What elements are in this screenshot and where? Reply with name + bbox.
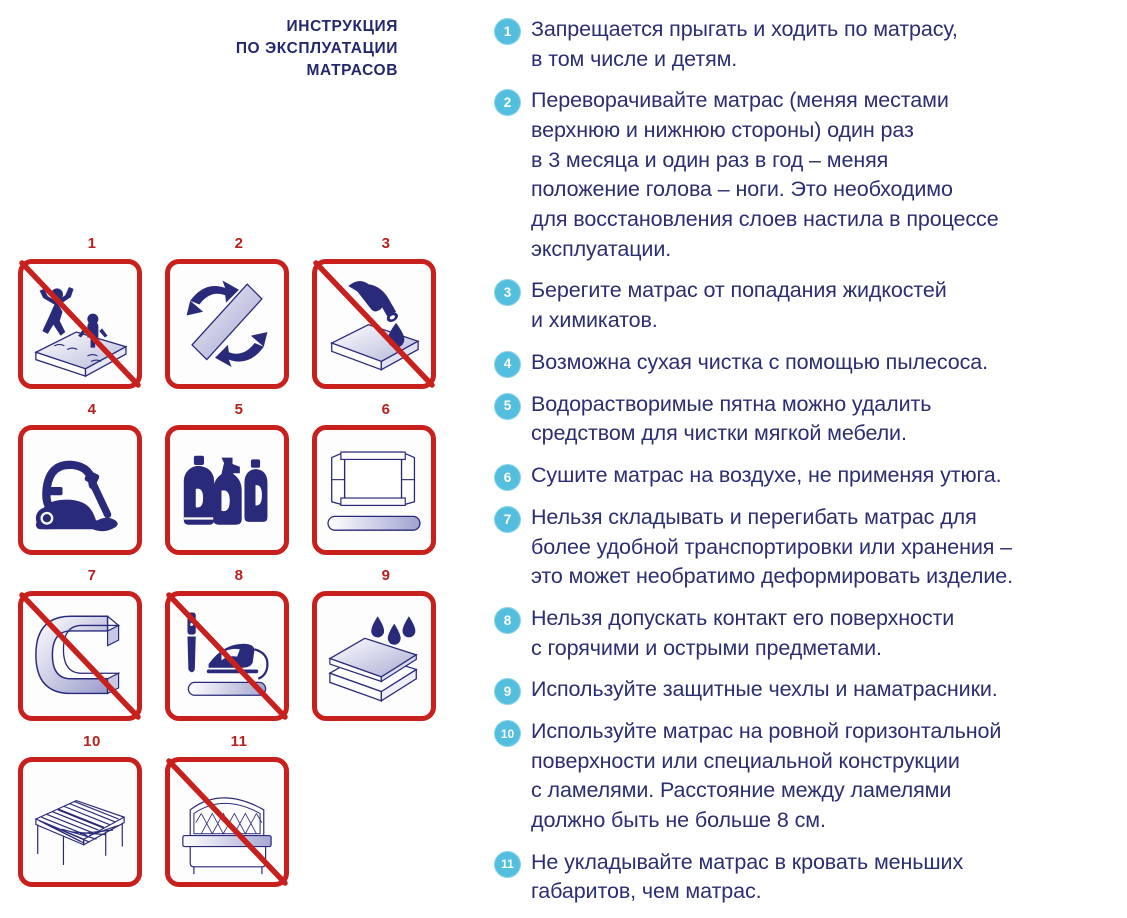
mattress-protector-cover-icon xyxy=(312,591,436,721)
pictogram-row: 10 xyxy=(0,734,460,900)
instruction-line: Нельзя допускать контакт его поверхности xyxy=(531,604,954,634)
status-badge: 3 xyxy=(494,279,521,306)
instruction-line: это может необратимо деформировать издел… xyxy=(531,562,1013,592)
pictogram-cell: 4 xyxy=(18,402,166,555)
pictogram-row: 7 xyxy=(0,568,460,734)
status-badge: 8 xyxy=(494,607,521,634)
list-item: 8 Нельзя допускать контакт его поверхнос… xyxy=(494,603,1114,663)
pictogram-number: 9 xyxy=(312,568,460,585)
status-badge: 11 xyxy=(494,851,521,878)
status-badge: 10 xyxy=(494,720,521,747)
pictogram-cell: 10 xyxy=(18,734,166,887)
instruction-line: поверхности или специальной конструкции xyxy=(531,747,1001,777)
instruction-line: с горячими и острыми предметами. xyxy=(531,634,954,664)
instruction-text: Водорастворимые пятна можно удалить сред… xyxy=(531,389,931,449)
pictogram-number: 4 xyxy=(18,402,166,419)
status-badge: 5 xyxy=(494,393,521,420)
instruction-line: с ламелями. Расстояние между ламелями xyxy=(531,776,1001,806)
instruction-line: Запрещается прыгать и ходить по матрасу, xyxy=(531,15,958,45)
list-item: 6 Сушите матрас на воздухе, не применяя … xyxy=(494,460,1114,491)
instruction-line: в том числе и детям. xyxy=(531,45,958,75)
list-item: 11 Не укладывайте матрас в кровать меньш… xyxy=(494,847,1114,907)
vacuum-cleaner-icon xyxy=(18,425,142,555)
status-badge: 6 xyxy=(494,464,521,491)
pictogram-number: 2 xyxy=(165,236,313,253)
pictogram-cell: 5 xyxy=(165,402,313,555)
list-item: 9 Используйте защитные чехлы и наматрасн… xyxy=(494,674,1114,705)
pictogram-cell: 1 xyxy=(18,236,166,389)
pictogram-number: 10 xyxy=(18,734,166,751)
pictogram-cell: 3 xyxy=(312,236,460,389)
list-item: 2 Переворачивайте матрас (меняя местами … xyxy=(494,85,1114,264)
pictogram-cell: 7 xyxy=(18,568,166,721)
instruction-line: Используйте защитные чехлы и наматрасник… xyxy=(531,675,998,705)
instruction-text: Используйте матрас на ровной горизонталь… xyxy=(531,716,1001,836)
instruction-text: Используйте защитные чехлы и наматрасник… xyxy=(531,674,998,705)
instruction-line: средством для чистки мягкой мебели. xyxy=(531,419,931,449)
instruction-line: Сушите матрас на воздухе, не применяя ут… xyxy=(531,461,1002,491)
list-item: 5 Водорастворимые пятна можно удалить ср… xyxy=(494,389,1114,449)
instruction-text: Нельзя допускать контакт его поверхности… xyxy=(531,603,954,663)
pictogram-row: 4 xyxy=(0,402,460,568)
instruction-line: Не укладывайте матрас в кровать меньших xyxy=(531,848,963,878)
instruction-line: Переворачивайте матрас (меняя местами xyxy=(531,86,999,116)
instruction-list: 1 Запрещается прыгать и ходить по матрас… xyxy=(494,14,1114,918)
instruction-line: габаритов, чем матрас. xyxy=(531,877,963,907)
instruction-text: Переворачивайте матрас (меняя местами ве… xyxy=(531,85,999,264)
pictogram-grid: 1 xyxy=(0,236,460,900)
rotate-flip-mattress-icon xyxy=(165,259,289,389)
status-badge: 7 xyxy=(494,506,521,533)
instruction-line: Возможна сухая чистка с помощью пылесоса… xyxy=(531,348,988,378)
page-title: ИНСТРУКЦИЯ ПО ЭКСПЛУАТАЦИИ МАТРАСОВ xyxy=(170,16,398,82)
pictogram-number: 7 xyxy=(18,568,166,585)
instruction-line: и химикатов. xyxy=(531,306,947,336)
pictogram-cell: 9 xyxy=(312,568,460,721)
pictogram-number: 8 xyxy=(165,568,313,585)
instruction-text: Возможна сухая чистка с помощью пылесоса… xyxy=(531,347,988,378)
instruction-line: более удобной транспортировки или хранен… xyxy=(531,533,1013,563)
pictogram-cell: 8 xyxy=(165,568,313,721)
instruction-poster: ИНСТРУКЦИЯ ПО ЭКСПЛУАТАЦИИ МАТРАСОВ 1 xyxy=(0,0,1127,918)
instruction-text: Запрещается прыгать и ходить по матрасу,… xyxy=(531,14,958,74)
pictogram-number: 3 xyxy=(312,236,460,253)
instruction-line: Нельзя складывать и перегибать матрас дл… xyxy=(531,503,1013,533)
page-title-line-1: ИНСТРУКЦИЯ xyxy=(170,16,398,38)
instruction-text: Нельзя складывать и перегибать матрас дл… xyxy=(531,502,1013,592)
instruction-line: Берегите матрас от попадания жидкостей xyxy=(531,276,947,306)
page-title-line-3: МАТРАСОВ xyxy=(170,60,398,82)
instruction-line: Используйте матрас на ровной горизонталь… xyxy=(531,717,1001,747)
list-item: 10 Используйте матрас на ровной горизонт… xyxy=(494,716,1114,836)
status-badge: 2 xyxy=(494,89,521,116)
pictogram-cell: 11 xyxy=(165,734,313,887)
air-dry-mattress-icon xyxy=(312,425,436,555)
instruction-line: должно быть не больше 8 см. xyxy=(531,806,1001,836)
instruction-text: Не укладывайте матрас в кровать меньших … xyxy=(531,847,963,907)
no-smaller-bed-frame-icon xyxy=(165,757,289,887)
instruction-line: верхнюю и нижнюю стороны) один раз xyxy=(531,116,999,146)
slatted-bed-base-icon xyxy=(18,757,142,887)
instruction-line: для восстановления слоев настила в проце… xyxy=(531,205,999,235)
pictogram-cell: 2 xyxy=(165,236,313,389)
instruction-line: в 3 месяца и один раз в год – меняя xyxy=(531,146,999,176)
instruction-text: Сушите матрас на воздухе, не применяя ут… xyxy=(531,460,1002,491)
pictogram-row: 1 xyxy=(0,236,460,402)
no-liquids-on-mattress-icon xyxy=(312,259,436,389)
instruction-line: положение голова – ноги. Это необходимо xyxy=(531,175,999,205)
pictogram-number: 1 xyxy=(18,236,166,253)
pictogram-number: 5 xyxy=(165,402,313,419)
instruction-text: Берегите матрас от попадания жидкостей и… xyxy=(531,275,947,335)
pictogram-number: 6 xyxy=(312,402,460,419)
pictogram-cell: 6 xyxy=(312,402,460,555)
list-item: 7 Нельзя складывать и перегибать матрас … xyxy=(494,502,1114,592)
no-folding-mattress-icon xyxy=(18,591,142,721)
no-jumping-on-mattress-icon xyxy=(18,259,142,389)
page-title-line-2: ПО ЭКСПЛУАТАЦИИ xyxy=(170,38,398,60)
status-badge: 9 xyxy=(494,678,521,705)
instruction-line: Водорастворимые пятна можно удалить xyxy=(531,390,931,420)
pictogram-number: 11 xyxy=(165,734,313,751)
instruction-line: эксплуатации. xyxy=(531,235,999,265)
no-iron-no-sharp-objects-icon xyxy=(165,591,289,721)
list-item: 1 Запрещается прыгать и ходить по матрас… xyxy=(494,14,1114,74)
status-badge: 1 xyxy=(494,18,521,45)
status-badge: 4 xyxy=(494,351,521,378)
list-item: 4 Возможна сухая чистка с помощью пылесо… xyxy=(494,347,1114,378)
list-item: 3 Берегите матрас от попадания жидкостей… xyxy=(494,275,1114,335)
cleaning-products-icon xyxy=(165,425,289,555)
